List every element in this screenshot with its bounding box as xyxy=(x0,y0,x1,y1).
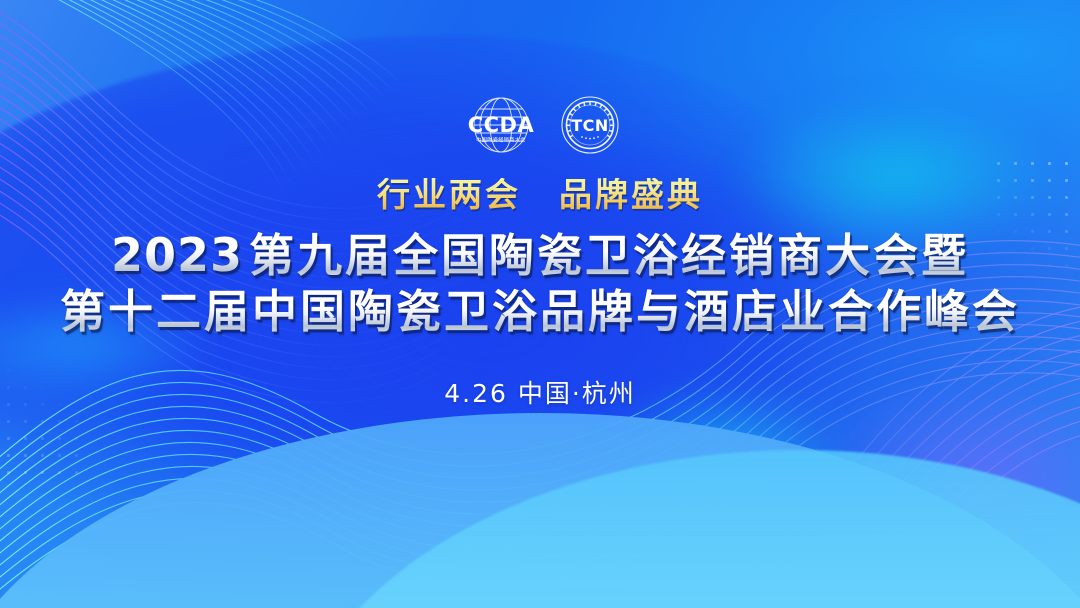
title-line-1-text: 第九届全国陶瓷卫浴经销商大会暨 xyxy=(249,229,969,282)
tcn-logo: TCN xyxy=(558,94,622,156)
ccda-logo-subtext: 中国陶瓷经销商大会 xyxy=(476,136,525,144)
svg-text:CCDA: CCDA xyxy=(468,113,535,137)
title-line-1: 2023第九届全国陶瓷卫浴经销商大会暨 xyxy=(111,228,969,282)
tagline: 行业两会 品牌盛典 xyxy=(377,178,703,211)
main-title: 2023第九届全国陶瓷卫浴经销商大会暨 第十二届中国陶瓷卫浴品牌与酒店业合作峰会 xyxy=(60,228,1020,338)
title-year: 2023 xyxy=(111,228,249,282)
banner-content: CCDA 中国陶瓷经销商大会 xyxy=(0,0,1080,608)
tagline-right: 品牌盛典 xyxy=(559,178,703,211)
date-city-label: 4.26 中国·杭州 xyxy=(444,374,636,410)
title-line-2: 第十二届中国陶瓷卫浴品牌与酒店业合作峰会 xyxy=(60,285,1020,338)
svg-text:TCN: TCN xyxy=(571,116,609,135)
conference-banner: CCDA 中国陶瓷经销商大会 xyxy=(0,0,1080,608)
ccda-logo: CCDA 中国陶瓷经销商大会 xyxy=(458,95,544,155)
tagline-left: 行业两会 xyxy=(377,178,521,211)
logo-row: CCDA 中国陶瓷经销商大会 xyxy=(458,94,622,156)
